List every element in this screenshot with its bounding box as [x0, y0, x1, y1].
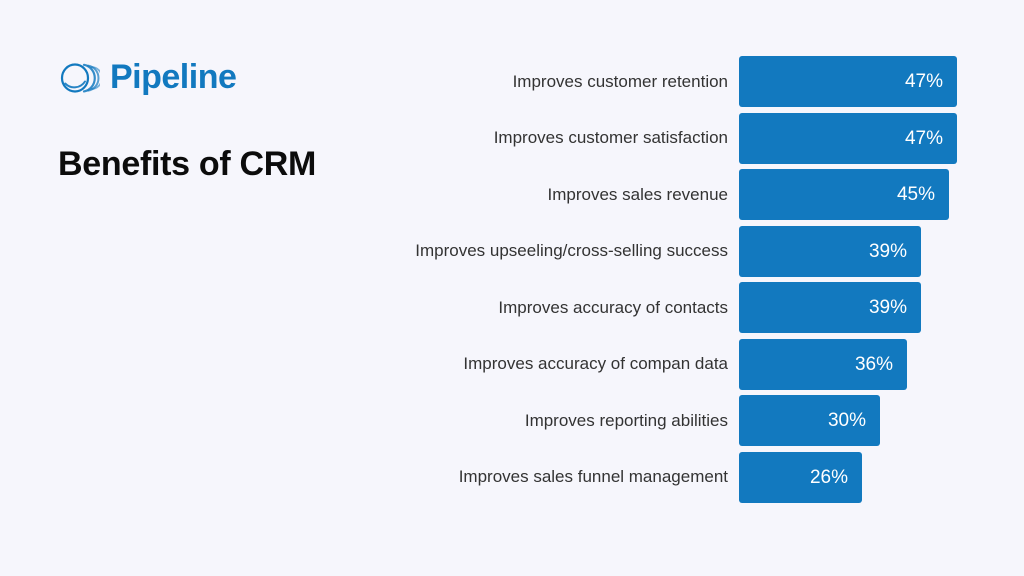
chart-row: Improves sales funnel management 26%	[330, 452, 990, 503]
pipeline-swirl-icon	[58, 56, 100, 98]
bar[interactable]: 39%	[739, 282, 921, 333]
bar-value-label: 39%	[869, 242, 907, 261]
bar-category-label: Improves customer satisfaction	[330, 113, 739, 164]
bar-category-label: Improves reporting abilities	[330, 395, 739, 446]
bar-value-label: 45%	[897, 185, 935, 204]
chart-row: Improves customer retention 47%	[330, 56, 990, 107]
bar-track: 47%	[739, 113, 990, 164]
bar-category-label: Improves sales funnel management	[330, 452, 739, 503]
bar-track: 45%	[739, 169, 990, 220]
chart-row: Improves customer satisfaction 47%	[330, 113, 990, 164]
bar[interactable]: 45%	[739, 169, 949, 220]
bar[interactable]: 47%	[739, 113, 957, 164]
bar-value-label: 26%	[810, 468, 848, 487]
bar-track: 30%	[739, 395, 990, 446]
chart-row: Improves sales revenue 45%	[330, 169, 990, 220]
bar[interactable]: 47%	[739, 56, 957, 107]
bar-category-label: Improves sales revenue	[330, 169, 739, 220]
chart-row: Improves upseeling/cross-selling success…	[330, 226, 990, 277]
bar-value-label: 36%	[855, 355, 893, 374]
bar[interactable]: 39%	[739, 226, 921, 277]
bar-value-label: 47%	[905, 72, 943, 91]
bar-track: 39%	[739, 282, 990, 333]
bar-category-label: Improves upseeling/cross-selling success	[330, 226, 739, 277]
bar-track: 39%	[739, 226, 990, 277]
bar-value-label: 39%	[869, 298, 907, 317]
chart-row: Improves accuracy of compan data 36%	[330, 339, 990, 390]
benefits-bar-chart: Improves customer retention 47% Improves…	[330, 56, 990, 508]
bar-track: 26%	[739, 452, 990, 503]
bar[interactable]: 26%	[739, 452, 862, 503]
bar[interactable]: 36%	[739, 339, 907, 390]
bar-track: 47%	[739, 56, 990, 107]
bar-track: 36%	[739, 339, 990, 390]
bar-category-label: Improves accuracy of compan data	[330, 339, 739, 390]
bar-value-label: 30%	[828, 411, 866, 430]
brand-wordmark: Pipeline	[110, 60, 236, 94]
bar-value-label: 47%	[905, 129, 943, 148]
chart-row: Improves accuracy of contacts 39%	[330, 282, 990, 333]
bar-category-label: Improves accuracy of contacts	[330, 282, 739, 333]
bar[interactable]: 30%	[739, 395, 880, 446]
chart-row: Improves reporting abilities 30%	[330, 395, 990, 446]
bar-category-label: Improves customer retention	[330, 56, 739, 107]
